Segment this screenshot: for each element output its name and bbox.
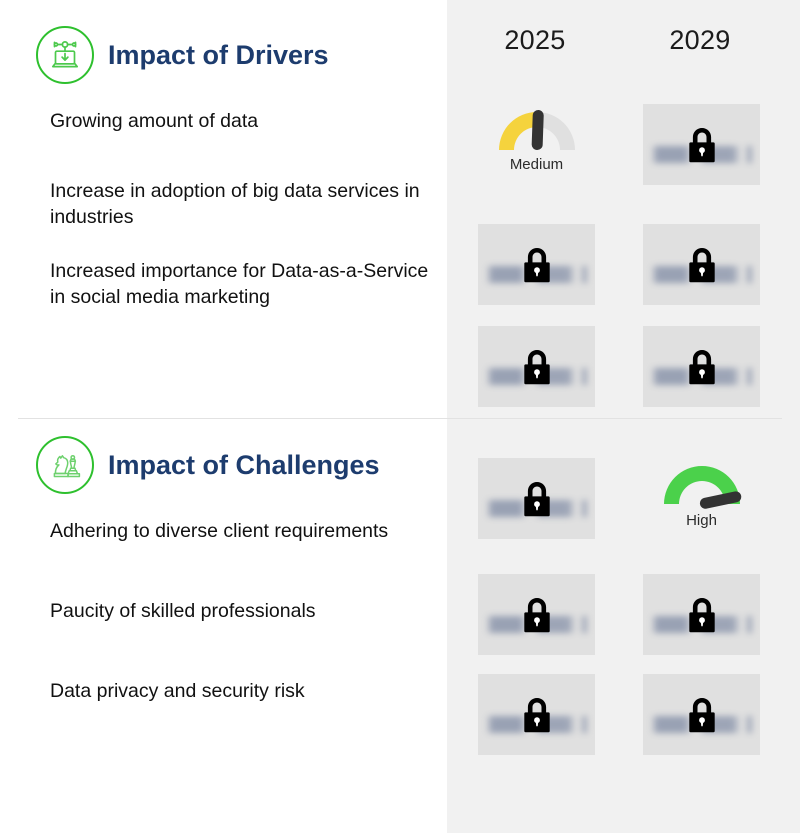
gauge-challenges-row1-2029: High: [643, 458, 760, 539]
locked-cell-drivers-row3-2025[interactable]: [478, 326, 595, 407]
lock-icon: [685, 695, 719, 735]
challenge-item-2: Paucity of skilled professionals: [50, 598, 430, 624]
lock-icon: [685, 595, 719, 635]
locked-cell-drivers-row3-2029[interactable]: [643, 326, 760, 407]
lock-icon: [520, 479, 554, 519]
locked-cell-challenges-row1-2025[interactable]: [478, 458, 595, 539]
challenge-item-3: Data privacy and security risk: [50, 678, 430, 704]
section-title-challenges: Impact of Challenges: [108, 450, 380, 481]
locked-cell-challenges-row3-2029[interactable]: [643, 674, 760, 755]
driver-item-1: Growing amount of data: [50, 108, 430, 134]
locked-overlay: [643, 224, 760, 305]
locked-cell-drivers-row2-2025[interactable]: [478, 224, 595, 305]
locked-overlay: [643, 674, 760, 755]
lock-icon: [685, 347, 719, 387]
locked-overlay: [478, 224, 595, 305]
driver-item-2: Increase in adoption of big data service…: [50, 178, 430, 230]
section-title-drivers: Impact of Drivers: [108, 40, 329, 71]
locked-overlay: [643, 104, 760, 185]
driver-item-3: Increased importance for Data-as-a-Servi…: [50, 258, 430, 310]
column-header-2029: 2029: [620, 25, 780, 56]
gauge-label-medium: Medium: [510, 156, 563, 173]
gauge-drivers-row1-2025: Medium: [478, 104, 595, 185]
locked-overlay: [478, 574, 595, 655]
locked-cell-challenges-row3-2025[interactable]: [478, 674, 595, 755]
locked-cell-drivers-row1-2029[interactable]: [643, 104, 760, 185]
gauge-label-high: High: [686, 512, 717, 529]
challenge-item-1: Adhering to diverse client requirements: [50, 518, 430, 544]
lock-icon: [520, 347, 554, 387]
lock-icon: [685, 125, 719, 165]
locked-cell-drivers-row2-2029[interactable]: [643, 224, 760, 305]
locked-cell-challenges-row2-2025[interactable]: [478, 574, 595, 655]
chess-pieces-icon: [36, 436, 94, 494]
locked-cell-challenges-row2-2029[interactable]: [643, 574, 760, 655]
lock-icon: [520, 595, 554, 635]
section-divider: [18, 418, 782, 419]
column-header-2025: 2025: [455, 25, 615, 56]
lock-icon: [520, 695, 554, 735]
section-header-drivers: Impact of Drivers: [36, 26, 329, 84]
locked-overlay: [478, 458, 595, 539]
infographic-root: 2025 2029 Impact of Drivers Growing amou…: [0, 0, 800, 833]
locked-overlay: [478, 674, 595, 755]
locked-overlay: [643, 574, 760, 655]
data-download-laptop-icon: [36, 26, 94, 84]
lock-icon: [685, 245, 719, 285]
section-header-challenges: Impact of Challenges: [36, 436, 380, 494]
locked-overlay: [643, 326, 760, 407]
lock-icon: [520, 245, 554, 285]
locked-overlay: [478, 326, 595, 407]
